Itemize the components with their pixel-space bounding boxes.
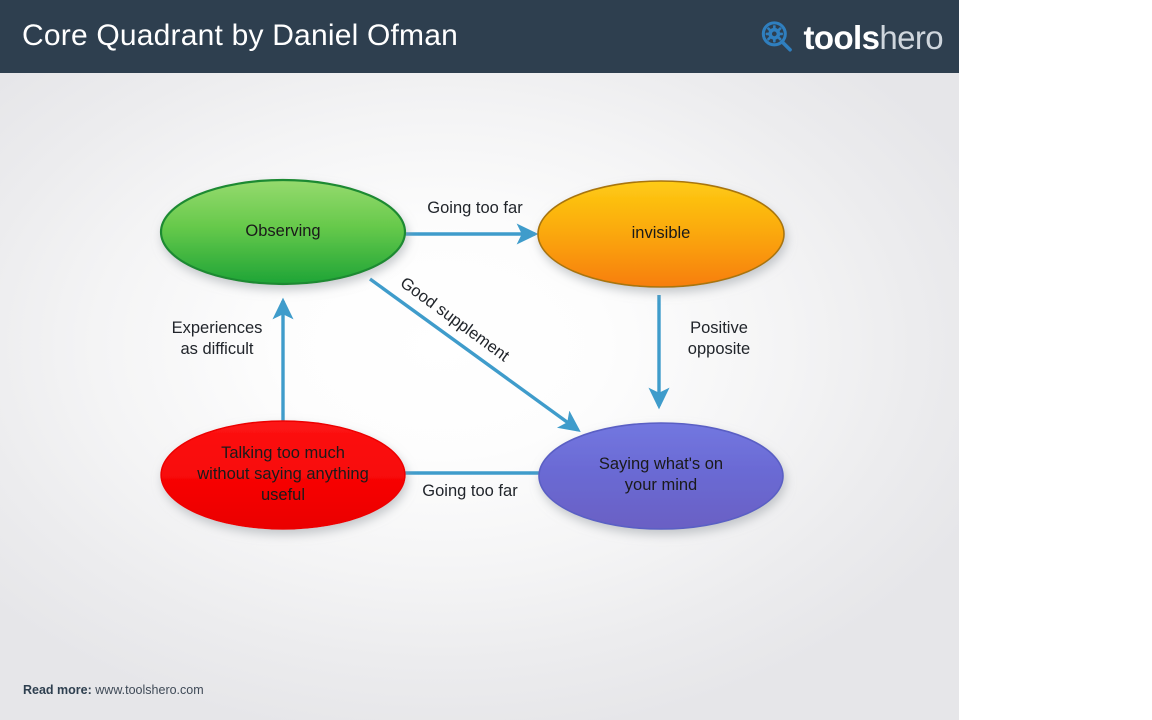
- toolshero-logo[interactable]: toolshero: [759, 16, 943, 58]
- toolshero-url[interactable]: www.toolshero.com: [95, 683, 203, 697]
- logo-text-hero: hero: [879, 19, 943, 56]
- core-quadrant-diagram: Observing invisible Talking too much wit…: [0, 73, 959, 673]
- node-ellipse-challenge[interactable]: [539, 423, 783, 529]
- node-ellipse-pitfall[interactable]: [161, 421, 405, 529]
- edge-arrow-diagonal: [370, 279, 578, 430]
- slide-header: Core Quadrant by Daniel Ofman: [0, 0, 959, 73]
- logo-text-tools: tools: [804, 19, 880, 56]
- slide-canvas: Core Quadrant by Daniel Ofman: [0, 0, 959, 720]
- logo-wordmark: toolshero: [804, 21, 943, 54]
- edge-label-right: Positive opposite: [657, 318, 781, 360]
- node-ellipse-core-quality[interactable]: [161, 180, 405, 284]
- edge-label-bottom: Going too far: [392, 481, 548, 502]
- read-more-label: Read more:: [23, 683, 92, 697]
- edge-label-top: Going too far: [396, 198, 554, 219]
- edge-label-left: Experiences as difficult: [138, 318, 296, 360]
- footer-read-more: Read more: www.toolshero.com: [23, 683, 204, 697]
- page-title: Core Quadrant by Daniel Ofman: [22, 19, 458, 53]
- node-ellipse-pitfall-opposite[interactable]: [538, 181, 784, 287]
- diagram-svg: [0, 73, 959, 673]
- magnifier-gear-icon: [759, 19, 795, 55]
